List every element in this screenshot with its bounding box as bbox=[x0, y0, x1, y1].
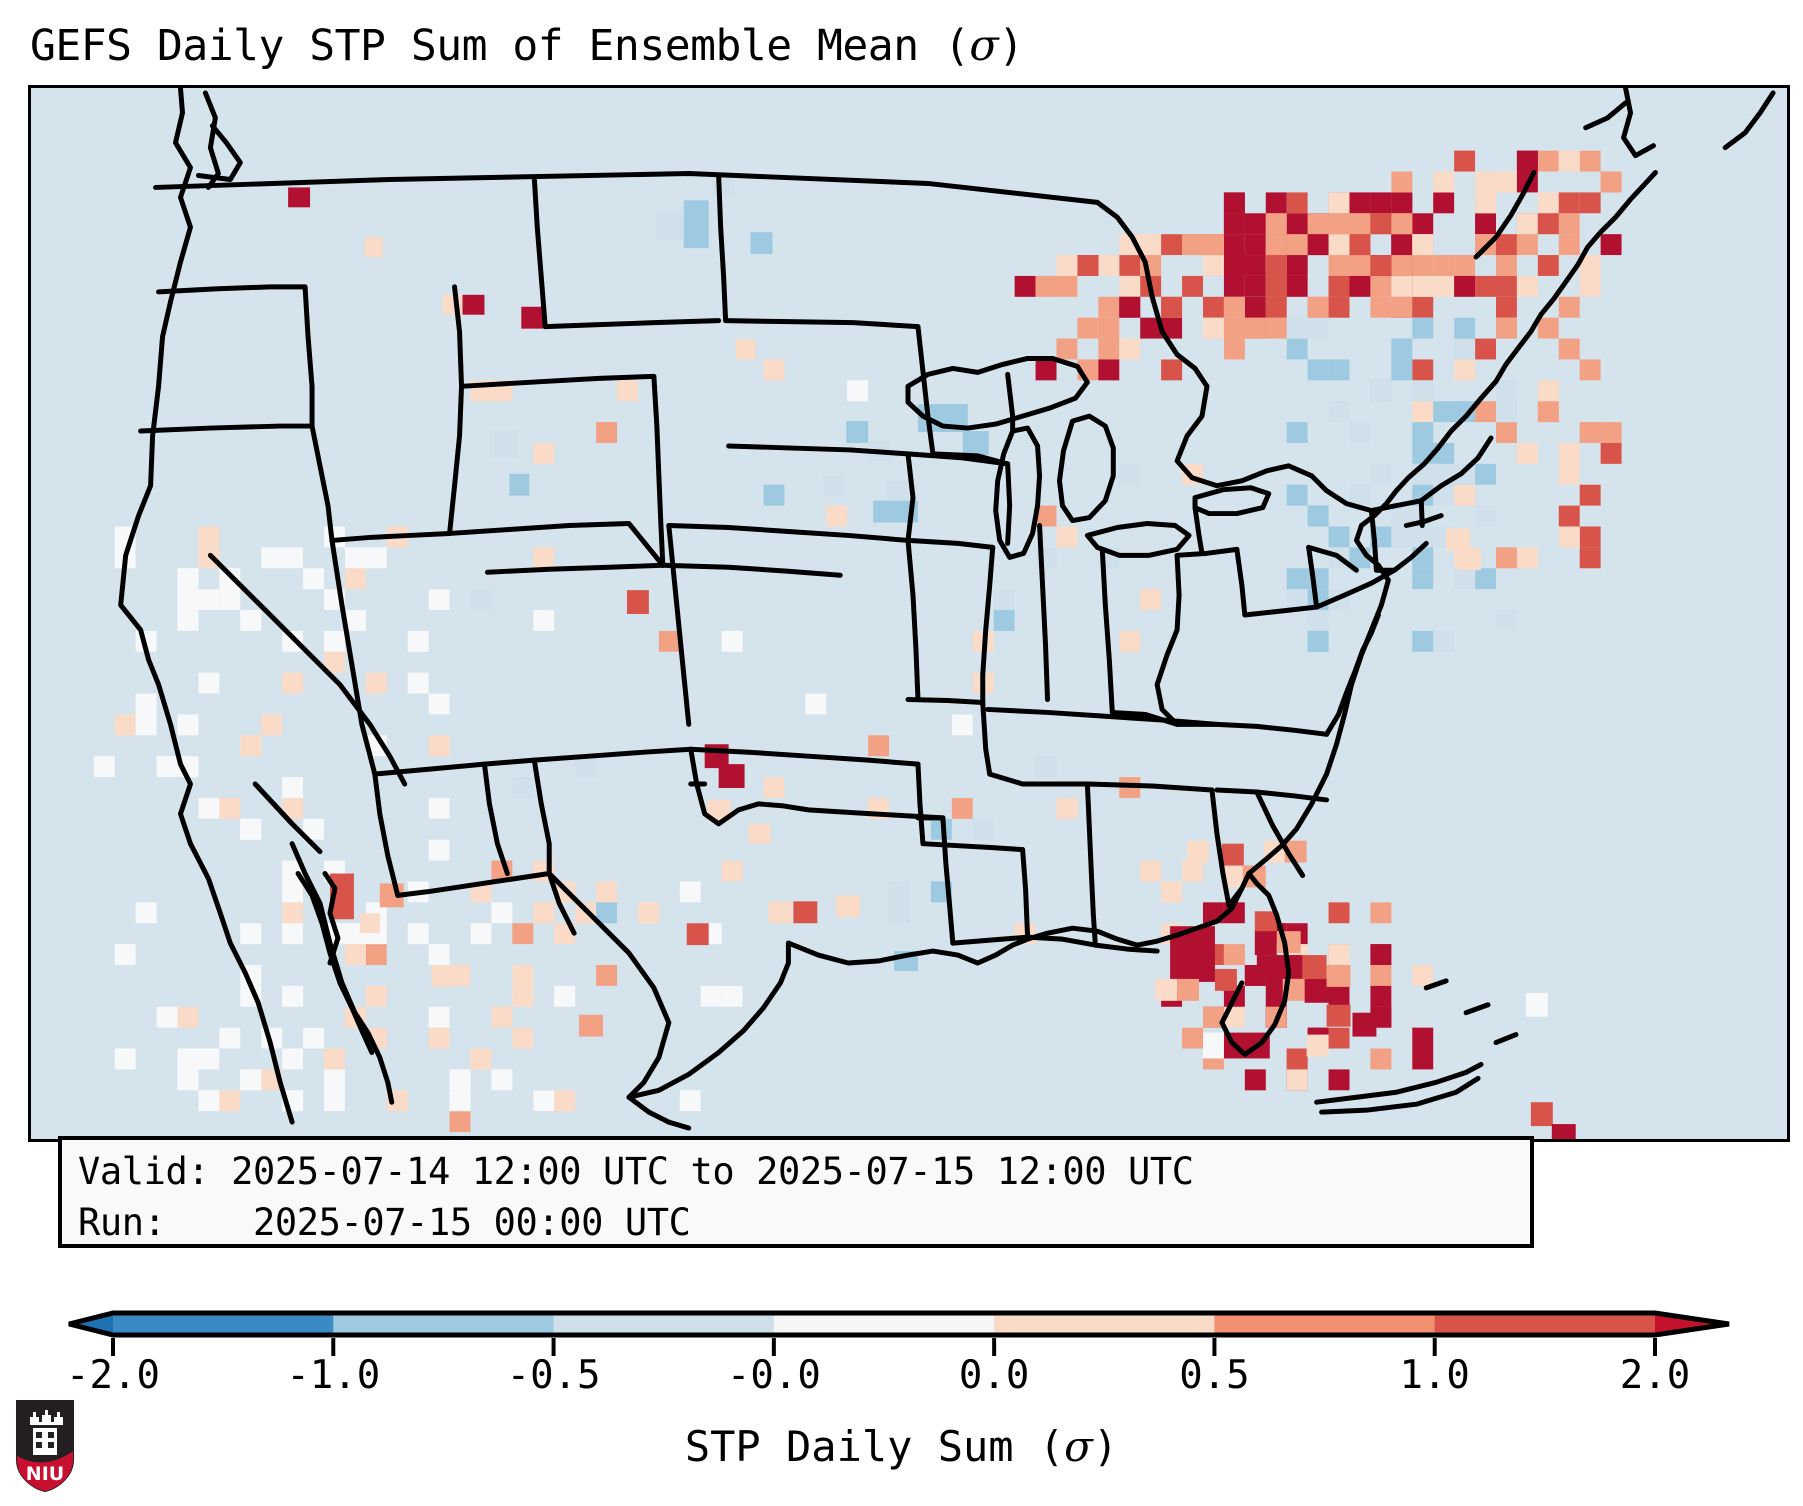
heatmap-cell bbox=[1496, 172, 1517, 193]
heatmap-cell bbox=[1308, 610, 1329, 631]
heatmap-cell bbox=[1266, 318, 1287, 339]
heatmap-cell bbox=[1446, 528, 1470, 550]
heatmap-cell bbox=[596, 965, 617, 986]
heatmap-cell bbox=[1412, 297, 1433, 318]
heatmap-cell bbox=[1412, 380, 1433, 401]
heatmap-cell bbox=[1475, 464, 1496, 485]
colorbar-tick-label: -1.0 bbox=[286, 1352, 380, 1400]
heatmap-cell bbox=[94, 756, 115, 777]
heatmap-cell bbox=[198, 589, 219, 610]
heatmap-cell bbox=[1559, 192, 1580, 213]
heatmap-cell bbox=[1224, 944, 1245, 965]
heatmap-cell bbox=[512, 965, 533, 986]
heatmap-cell bbox=[1454, 485, 1475, 506]
heatmap-cell bbox=[1454, 359, 1475, 380]
heatmap-cell bbox=[579, 1015, 603, 1037]
heatmap-cell bbox=[1287, 318, 1308, 339]
heatmap-cell bbox=[1370, 380, 1391, 401]
map-panel[interactable] bbox=[28, 85, 1790, 1142]
heatmap-cell bbox=[219, 1028, 240, 1049]
tower-crenellations bbox=[30, 1410, 63, 1425]
heatmap-cell bbox=[1036, 276, 1057, 297]
heatmap-cell bbox=[1496, 610, 1517, 631]
heatmap-cell bbox=[282, 881, 303, 902]
heatmap-cell bbox=[1161, 234, 1182, 255]
heatmap-cell bbox=[360, 913, 380, 933]
heatmap-cell bbox=[1391, 359, 1412, 380]
heatmap-cell bbox=[177, 1007, 198, 1028]
heatmap-cell bbox=[749, 824, 771, 844]
colorbar-tick-labels: -2.0-1.0-0.5-0.00.00.51.02.0 bbox=[0, 1352, 1803, 1404]
colorbar-segment bbox=[1214, 1313, 1435, 1335]
heatmap-cell bbox=[240, 610, 261, 631]
heatmap-cell bbox=[1182, 1028, 1203, 1049]
heatmap-cell bbox=[533, 1090, 554, 1111]
heatmap-cell bbox=[261, 714, 282, 735]
heatmap-cell bbox=[1370, 965, 1391, 986]
heatmap-cell bbox=[868, 735, 889, 756]
heatmap-cell bbox=[1496, 380, 1517, 401]
heatmap-cell bbox=[157, 756, 178, 777]
heatmap-cell bbox=[1287, 234, 1308, 255]
heatmap-cell bbox=[751, 232, 773, 254]
heatmap-cell bbox=[240, 923, 261, 944]
heatmap-cell bbox=[1580, 547, 1601, 568]
heatmap-cell bbox=[1412, 422, 1433, 443]
heatmap-cell bbox=[198, 798, 219, 819]
heatmap-cell bbox=[889, 902, 910, 923]
heatmap-cell bbox=[1140, 234, 1161, 255]
heatmap-cell bbox=[345, 944, 366, 965]
heatmap-cell bbox=[1119, 255, 1140, 276]
heatmap-cell bbox=[198, 526, 219, 547]
heatmap-cell bbox=[638, 902, 659, 923]
page-title: GEFS Daily STP Sum of Ensemble Mean (σ) bbox=[30, 18, 1770, 74]
heatmap-cell bbox=[1255, 931, 1277, 955]
heatmap-cell bbox=[1559, 464, 1580, 485]
heatmap-cell bbox=[680, 1090, 701, 1111]
heatmap-cell bbox=[1580, 276, 1601, 297]
heatmap-cell bbox=[1412, 401, 1433, 422]
heatmap-cell bbox=[345, 568, 366, 589]
heatmap-cell bbox=[1266, 192, 1287, 213]
heatmap-cell bbox=[491, 902, 512, 923]
heatmap-cell bbox=[1177, 979, 1199, 1001]
heatmap-cell bbox=[533, 547, 554, 568]
heatmap-cell bbox=[533, 610, 554, 631]
niu-shield-icon: NIU bbox=[14, 1398, 76, 1494]
heatmap-cell bbox=[1538, 380, 1559, 401]
heatmap-cell bbox=[1266, 255, 1287, 276]
heatmap-cell bbox=[1538, 192, 1559, 213]
heatmap-cell bbox=[1349, 255, 1370, 276]
colorbar-axis-label-tail: ) bbox=[1093, 1422, 1118, 1471]
heatmap-cell bbox=[136, 902, 157, 923]
heatmap-cell bbox=[1496, 547, 1517, 568]
heatmap-cell bbox=[684, 200, 709, 248]
heatmap-cell bbox=[1496, 401, 1517, 422]
heatmap-cell bbox=[1245, 297, 1266, 318]
heatmap-cell bbox=[512, 986, 533, 1007]
heatmap-cell bbox=[554, 1090, 575, 1111]
heatmap-cell bbox=[1475, 172, 1496, 193]
heatmap-cell bbox=[793, 901, 817, 923]
heatmap-cell bbox=[719, 764, 745, 788]
heatmap-cell bbox=[470, 1049, 491, 1070]
heatmap-cell bbox=[1182, 234, 1203, 255]
heatmap-cell bbox=[1308, 234, 1329, 255]
heatmap-cell bbox=[805, 694, 826, 715]
heatmap-cell bbox=[177, 610, 198, 631]
heatmap-cell bbox=[282, 986, 303, 1007]
heatmap-cell bbox=[1222, 844, 1244, 868]
colorbar-tick-label: -0.5 bbox=[507, 1352, 601, 1400]
heatmap-cell bbox=[656, 210, 684, 240]
heatmap-cell bbox=[1287, 485, 1308, 506]
heatmap-cell bbox=[1329, 234, 1350, 255]
heatmap-cell bbox=[1370, 213, 1391, 234]
heatmap-cell bbox=[1056, 526, 1077, 547]
heatmap-cell bbox=[1287, 255, 1308, 276]
heatmap-cell bbox=[713, 176, 735, 196]
heatmap-cell bbox=[1559, 443, 1580, 464]
heatmap-cell bbox=[1308, 631, 1329, 652]
heatmap-cell bbox=[1308, 213, 1329, 234]
heatmap-cell bbox=[429, 694, 450, 715]
heatmap-cell bbox=[1538, 151, 1559, 172]
heatmap-cell bbox=[198, 1049, 219, 1070]
heatmap-cell bbox=[1370, 944, 1391, 965]
heatmap-cell bbox=[1182, 276, 1203, 297]
heatmap-cell bbox=[1349, 213, 1370, 234]
heatmap-cell bbox=[952, 798, 973, 819]
heatmap-cell bbox=[1203, 297, 1224, 318]
heatmap-cell bbox=[1559, 234, 1580, 255]
heatmap-cell bbox=[470, 589, 491, 610]
heatmap-cell bbox=[1203, 318, 1224, 339]
heatmap-cell bbox=[282, 902, 303, 923]
heatmap-cell bbox=[1077, 255, 1098, 276]
heatmap-cell bbox=[450, 1090, 471, 1111]
heatmap-cell bbox=[1552, 1124, 1576, 1139]
heatmap-cell bbox=[240, 1069, 261, 1090]
heatmap-cell bbox=[1287, 1069, 1308, 1090]
heatmap-cell bbox=[1391, 255, 1412, 276]
heatmap-cell bbox=[1203, 1033, 1224, 1059]
heatmap-cell bbox=[282, 923, 303, 944]
heatmap-cell bbox=[429, 1007, 450, 1028]
heatmap-cell bbox=[1161, 359, 1182, 380]
heatmap-cell bbox=[1257, 955, 1303, 979]
heatmap-cell bbox=[1391, 276, 1412, 297]
heatmap-cell bbox=[659, 631, 680, 652]
heatmap-cell bbox=[1327, 965, 1351, 987]
heatmap-cell bbox=[1349, 485, 1370, 506]
heatmap-cell bbox=[687, 923, 709, 945]
heatmap-cell bbox=[1287, 276, 1308, 297]
colorbar-segment bbox=[113, 1313, 334, 1335]
heatmap-cell bbox=[1245, 255, 1266, 276]
heatmap-cell bbox=[429, 589, 450, 610]
heatmap-cell bbox=[282, 673, 303, 694]
heatmap-cell bbox=[627, 590, 649, 614]
sigma-symbol: σ bbox=[969, 21, 998, 71]
heatmap-cell bbox=[1496, 297, 1517, 318]
heatmap-cell bbox=[846, 421, 868, 443]
heatmap-cell bbox=[1517, 547, 1538, 568]
heatmap-cell bbox=[1475, 276, 1496, 297]
heatmap-cell bbox=[1329, 401, 1350, 422]
heatmap-cell bbox=[1475, 213, 1496, 234]
heatmap-cell bbox=[1140, 861, 1161, 882]
heatmap-cell bbox=[1454, 339, 1475, 360]
heatmap-cell bbox=[1580, 526, 1601, 547]
heatmap-cell bbox=[1601, 443, 1622, 464]
heatmap-cell bbox=[1433, 192, 1454, 213]
heatmap-cell bbox=[366, 944, 387, 965]
heatmap-cell bbox=[366, 986, 387, 1007]
heatmap-cell bbox=[1303, 955, 1327, 979]
heatmap-cell bbox=[1580, 359, 1601, 380]
heatmap-cell bbox=[1349, 192, 1370, 213]
heatmap-cell bbox=[1412, 965, 1433, 986]
heatmap-cell bbox=[1056, 339, 1077, 360]
heatmap-cell bbox=[366, 673, 387, 694]
heatmap-cell bbox=[763, 485, 784, 506]
heatmap-cell bbox=[282, 777, 303, 798]
heatmap-cell bbox=[1391, 526, 1412, 547]
heatmap-cell bbox=[1203, 234, 1224, 255]
colorbar-axis-label: STP Daily Sum (σ) bbox=[0, 1420, 1803, 1474]
heatmap-cell bbox=[1601, 172, 1622, 193]
figure-canvas: GEFS Daily STP Sum of Ensemble Mean (σ) bbox=[0, 0, 1803, 1506]
heatmap-cell bbox=[1531, 1102, 1553, 1126]
heatmap-cell bbox=[701, 986, 722, 1007]
heatmap-cell bbox=[1559, 339, 1580, 360]
heatmap-cell bbox=[1287, 339, 1308, 360]
heatmap-cell bbox=[1349, 276, 1370, 297]
heatmap-cell bbox=[177, 1049, 198, 1070]
heatmap-cell bbox=[1224, 234, 1245, 255]
heatmap-cell bbox=[1559, 506, 1580, 527]
heatmap-cell bbox=[1287, 213, 1308, 234]
heatmap-cell bbox=[1391, 297, 1412, 318]
heatmap-cell bbox=[1454, 568, 1475, 589]
niu-logo: NIU bbox=[14, 1398, 76, 1494]
heatmap-cell bbox=[1098, 255, 1119, 276]
heatmap-cell bbox=[1329, 986, 1350, 1007]
heatmap-cells bbox=[94, 151, 1622, 1139]
heatmap-cell bbox=[509, 474, 529, 496]
colorbar-tick-label: 0.5 bbox=[1179, 1352, 1249, 1400]
heatmap-cell bbox=[1266, 234, 1287, 255]
heatmap-cell bbox=[886, 481, 908, 501]
heatmap-cell bbox=[198, 1090, 219, 1111]
heatmap-cell bbox=[240, 819, 261, 840]
heatmap-cell bbox=[973, 819, 994, 840]
colorbar-tick-label: 2.0 bbox=[1620, 1352, 1690, 1400]
heatmap-cell bbox=[1255, 911, 1277, 933]
heatmap-cell bbox=[680, 881, 701, 902]
heatmap-cell bbox=[1454, 318, 1475, 339]
heatmap-cell bbox=[240, 735, 261, 756]
heatmap-cell bbox=[136, 694, 157, 715]
heatmap-cell bbox=[345, 547, 366, 568]
heatmap-cell bbox=[365, 237, 383, 257]
heatmap-cell bbox=[1459, 548, 1481, 570]
colorbar-axis-label-text: STP Daily Sum ( bbox=[685, 1422, 1064, 1471]
heatmap-cell bbox=[1349, 234, 1370, 255]
heatmap-cell bbox=[1266, 213, 1287, 234]
heatmap-cell bbox=[1391, 192, 1412, 213]
colorbar-segment bbox=[554, 1313, 775, 1335]
heatmap-cell bbox=[1517, 151, 1538, 172]
heatmap-cell bbox=[1538, 318, 1559, 339]
conus-map bbox=[31, 88, 1787, 1139]
heatmap-cell bbox=[994, 589, 1015, 610]
heatmap-cell bbox=[1287, 422, 1308, 443]
heatmap-cell bbox=[512, 1028, 533, 1049]
heatmap-cell bbox=[1370, 255, 1391, 276]
heatmap-cell bbox=[1538, 255, 1559, 276]
heatmap-cell bbox=[1517, 276, 1538, 297]
heatmap-cell bbox=[1349, 422, 1370, 443]
heatmap-cell bbox=[1161, 881, 1182, 902]
colorbar-segment bbox=[333, 1313, 554, 1335]
heatmap-cell bbox=[1412, 234, 1433, 255]
colorbar-tick-label: -0.0 bbox=[727, 1352, 821, 1400]
heatmap-cell bbox=[1391, 234, 1412, 255]
heatmap-cell bbox=[1329, 1069, 1350, 1090]
heatmap-cell bbox=[1287, 192, 1308, 213]
heatmap-cell bbox=[617, 380, 638, 401]
page-title-text: GEFS Daily STP Sum of Ensemble Mean ( bbox=[30, 21, 969, 71]
heatmap-cell bbox=[952, 714, 973, 735]
heatmap-cell bbox=[1245, 1069, 1266, 1090]
heatmap-cell bbox=[1287, 1049, 1308, 1070]
heatmap-cell bbox=[1098, 339, 1119, 360]
heatmap-cell bbox=[429, 944, 450, 965]
heatmap-cell bbox=[136, 714, 157, 735]
heatmap-cell bbox=[1412, 255, 1433, 276]
colorbar-segments bbox=[69, 1313, 1729, 1335]
heatmap-cell bbox=[1559, 151, 1580, 172]
colorbar[interactable] bbox=[0, 1300, 1803, 1360]
colorbar-segment bbox=[994, 1313, 1215, 1335]
heatmap-cell bbox=[1036, 359, 1057, 380]
heatmap-cell bbox=[1098, 297, 1119, 318]
heatmap-cell bbox=[282, 547, 303, 568]
heatmap-cell bbox=[1203, 255, 1224, 276]
heatmap-cell bbox=[115, 944, 136, 965]
heatmap-cell bbox=[1412, 276, 1433, 297]
heatmap-cell bbox=[1224, 213, 1245, 234]
heatmap-cell bbox=[1161, 297, 1182, 318]
heatmap-cell bbox=[1224, 192, 1245, 213]
heatmap-cell bbox=[1119, 276, 1140, 297]
run-time-line: Run: 2025-07-15 00:00 UTC bbox=[78, 1197, 1514, 1248]
heatmap-cell bbox=[963, 431, 989, 455]
heatmap-cell bbox=[521, 307, 543, 329]
heatmap-cell bbox=[1329, 944, 1350, 965]
heatmap-cell bbox=[1412, 213, 1433, 234]
heatmap-cell bbox=[823, 476, 843, 496]
heatmap-cell bbox=[1036, 756, 1057, 777]
heatmap-cell bbox=[1287, 568, 1308, 589]
heatmap-cell bbox=[219, 589, 240, 610]
heatmap-cell bbox=[1155, 979, 1177, 1001]
heatmap-cell bbox=[1412, 568, 1433, 589]
heatmap-cell bbox=[429, 1028, 450, 1049]
heatmap-cell bbox=[1496, 234, 1517, 255]
heatmap-cell bbox=[1056, 255, 1077, 276]
heatmap-cell bbox=[408, 631, 429, 652]
heatmap-cell bbox=[1580, 151, 1601, 172]
heatmap-cell bbox=[1559, 526, 1580, 547]
heatmap-cell bbox=[1215, 969, 1237, 991]
heatmap-cell bbox=[1412, 1049, 1433, 1070]
heatmap-cell bbox=[1119, 631, 1140, 652]
heatmap-cell bbox=[408, 923, 429, 944]
heatmap-cell bbox=[889, 881, 910, 902]
logo-text: NIU bbox=[26, 1463, 64, 1485]
heatmap-cell bbox=[219, 798, 240, 819]
heatmap-cell bbox=[219, 1090, 240, 1111]
heatmap-cell bbox=[303, 1028, 324, 1049]
heatmap-cell bbox=[722, 986, 743, 1007]
heatmap-cell bbox=[1475, 339, 1496, 360]
heatmap-cell bbox=[177, 714, 198, 735]
heatmap-cell bbox=[1224, 297, 1245, 318]
heatmap-cell bbox=[1119, 339, 1140, 360]
heatmap-cell bbox=[1352, 1013, 1376, 1037]
heatmap-cell bbox=[1526, 993, 1548, 1017]
heatmap-cell bbox=[1119, 297, 1140, 318]
heatmap-cell bbox=[1308, 318, 1329, 339]
heatmap-cell bbox=[836, 895, 860, 917]
heatmap-cell bbox=[463, 295, 485, 315]
page-title-tail: ) bbox=[998, 21, 1023, 71]
heatmap-cell bbox=[1182, 861, 1203, 882]
colorbar-tick-label: -2.0 bbox=[66, 1352, 160, 1400]
heatmap-cell bbox=[1329, 255, 1350, 276]
heatmap-cell bbox=[1329, 192, 1350, 213]
heatmap-cell bbox=[1538, 213, 1559, 234]
heatmap-cell bbox=[1370, 1049, 1391, 1070]
heatmap-cell bbox=[1015, 276, 1036, 297]
heatmap-cell bbox=[303, 568, 324, 589]
heatmap-cell bbox=[1224, 318, 1245, 339]
heatmap-cell bbox=[1077, 318, 1098, 339]
heatmap-cell bbox=[1305, 979, 1329, 1003]
heatmap-cell bbox=[1580, 485, 1601, 506]
heatmap-cell bbox=[324, 631, 345, 652]
heatmap-cell bbox=[1433, 631, 1454, 652]
heatmap-cell bbox=[1391, 213, 1412, 234]
heatmap-cell bbox=[826, 506, 847, 527]
heatmap-cell bbox=[324, 1069, 345, 1090]
heatmap-cell bbox=[1580, 192, 1601, 213]
heatmap-cell bbox=[177, 589, 198, 610]
colorbar-sigma-symbol: σ bbox=[1064, 1422, 1093, 1471]
heatmap-cell bbox=[1329, 902, 1350, 923]
heatmap-cell bbox=[1412, 359, 1433, 380]
heatmap-cell bbox=[847, 380, 868, 401]
heatmap-cell bbox=[994, 610, 1015, 631]
heatmap-cell bbox=[1391, 172, 1412, 193]
heatmap-cell bbox=[1266, 297, 1287, 318]
heatmap-cell bbox=[533, 443, 554, 464]
